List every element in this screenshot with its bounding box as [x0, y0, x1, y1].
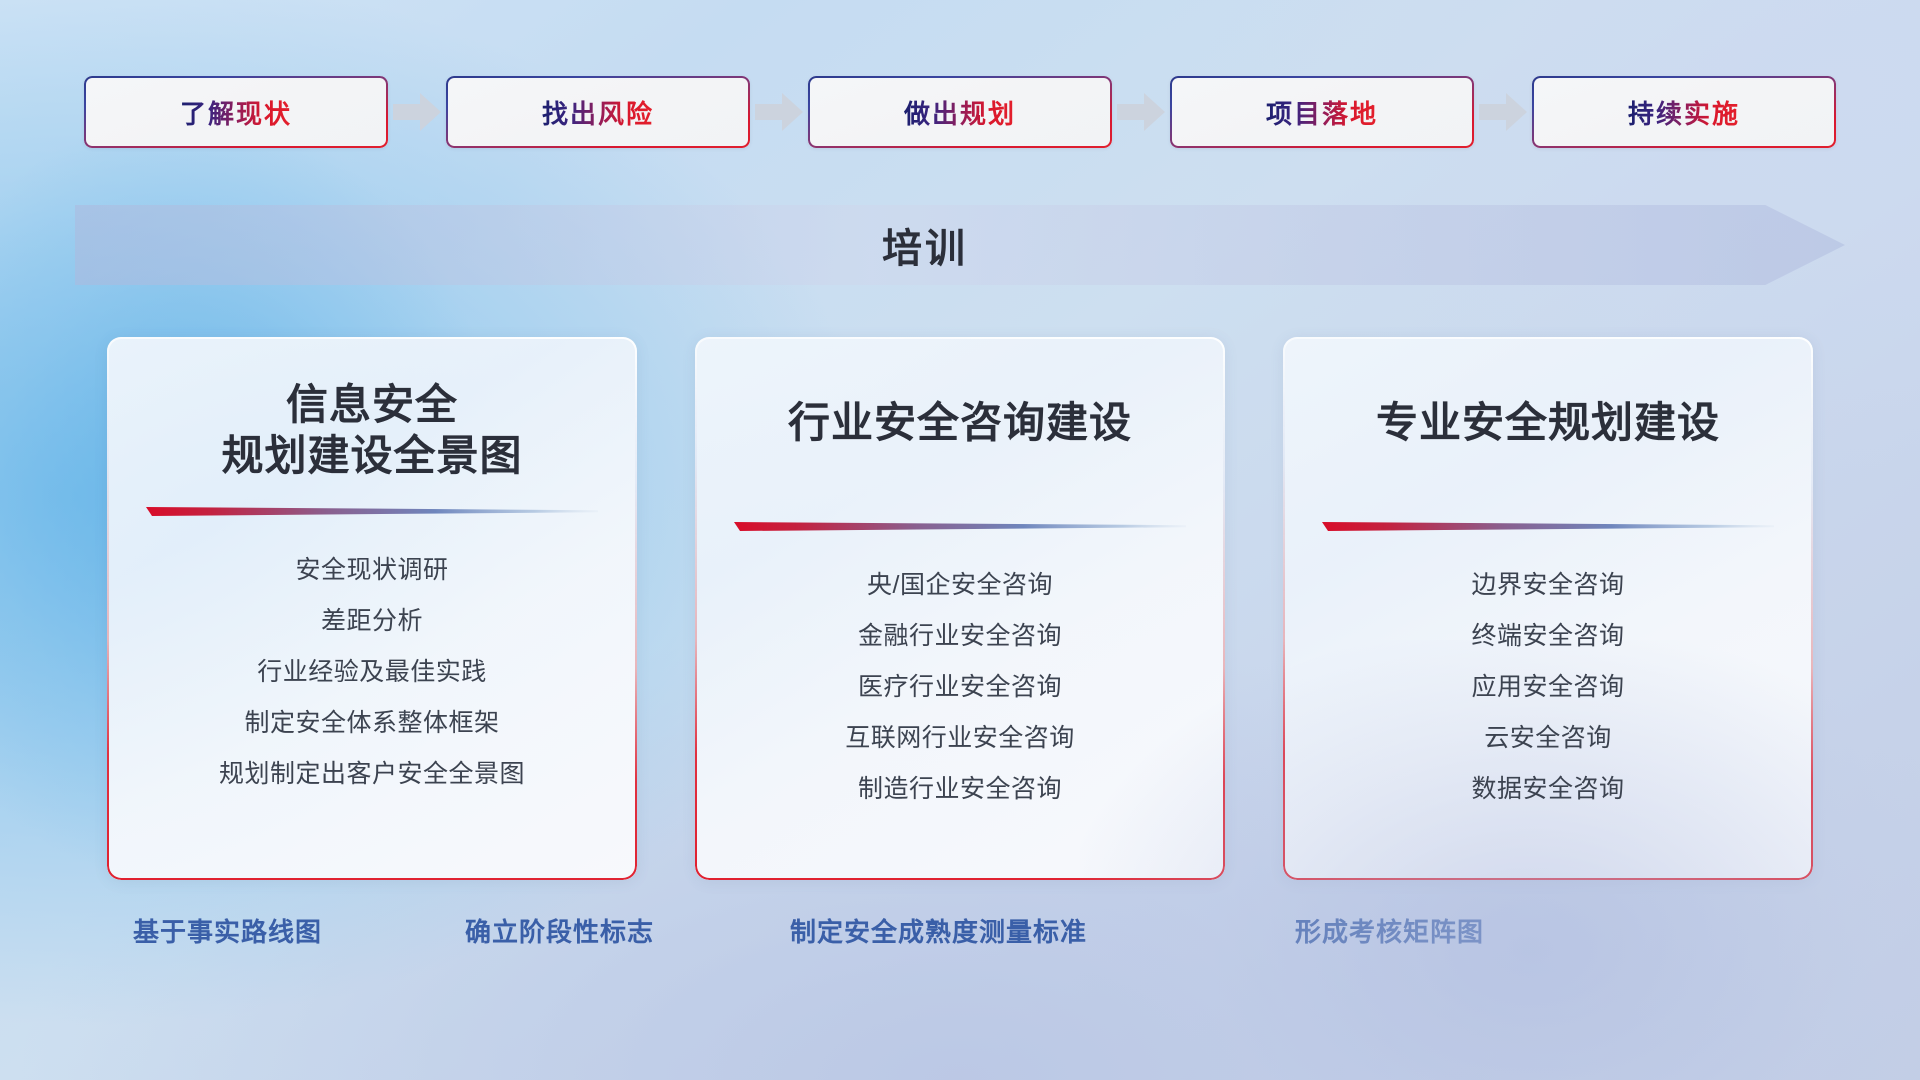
card-2[interactable]: 行业安全咨询建设	[695, 337, 1225, 880]
step-box-1[interactable]: 了解现状	[84, 76, 388, 148]
card-divider-3	[1322, 520, 1774, 534]
card-row: 信息安全 规划建设全景图	[0, 337, 1920, 880]
card-1[interactable]: 信息安全 规划建设全景图	[107, 337, 637, 880]
list-item: 规划制定出客户安全全景图	[219, 749, 525, 800]
list-item: 数据安全咨询	[1471, 764, 1624, 815]
process-step-row: 了解现状 找出风险 做出规划 项目落地 持续实施	[0, 76, 1920, 148]
list-item: 制定安全体系整体框架	[219, 698, 525, 749]
list-item: 安全现状调研	[219, 545, 525, 596]
step-box-4[interactable]: 项目落地	[1170, 76, 1474, 148]
list-item: 行业经验及最佳实践	[219, 647, 525, 698]
arrow-right-icon	[750, 90, 808, 134]
list-item: 终端安全咨询	[1471, 611, 1624, 662]
card-list-2: 央/国企安全咨询 金融行业安全咨询 医疗行业安全咨询 互联网行业安全咨询 制造行…	[845, 560, 1075, 815]
step-box-2[interactable]: 找出风险	[446, 76, 750, 148]
bottom-label-2: 确立阶段性标志	[465, 912, 654, 949]
list-item: 差距分析	[219, 596, 525, 647]
arrow-right-icon	[388, 90, 446, 134]
list-item: 应用安全咨询	[1471, 662, 1624, 713]
step-label-1: 了解现状	[180, 94, 292, 131]
step-box-3[interactable]: 做出规划	[808, 76, 1112, 148]
list-item: 云安全咨询	[1471, 713, 1624, 764]
list-item: 互联网行业安全咨询	[845, 713, 1075, 764]
step-label-4: 项目落地	[1266, 94, 1378, 131]
list-item: 金融行业安全咨询	[845, 611, 1075, 662]
card-3[interactable]: 专业安全规划建设	[1283, 337, 1813, 880]
bottom-label-row: 基于事实路线图 确立阶段性标志 制定安全成熟度测量标准 形成考核矩阵图	[0, 912, 1920, 956]
slide-canvas: 了解现状 找出风险 做出规划 项目落地 持续实施 培训	[0, 0, 1920, 1080]
card-title-1: 信息安全 规划建设全景图	[221, 379, 522, 481]
card-title-2: 行业安全咨询建设	[788, 397, 1132, 448]
card-list-1: 安全现状调研 差距分析 行业经验及最佳实践 制定安全体系整体框架 规划制定出客户…	[219, 545, 525, 800]
list-item: 制造行业安全咨询	[845, 764, 1075, 815]
bottom-label-3: 制定安全成熟度测量标准	[790, 912, 1087, 949]
card-title-3: 专业安全规划建设	[1376, 397, 1720, 448]
bottom-label-1: 基于事实路线图	[133, 912, 322, 949]
bottom-label-4: 形成考核矩阵图	[1295, 912, 1484, 949]
card-divider-2	[734, 520, 1186, 534]
banner-title: 培训	[75, 216, 1845, 274]
list-item: 医疗行业安全咨询	[845, 662, 1075, 713]
arrow-right-icon	[1112, 90, 1170, 134]
card-divider-1	[146, 505, 598, 519]
training-banner: 培训	[75, 205, 1845, 285]
arrow-right-icon	[1474, 90, 1532, 134]
step-box-5[interactable]: 持续实施	[1532, 76, 1836, 148]
step-label-2: 找出风险	[542, 94, 654, 131]
list-item: 央/国企安全咨询	[845, 560, 1075, 611]
card-list-3: 边界安全咨询 终端安全咨询 应用安全咨询 云安全咨询 数据安全咨询	[1471, 560, 1624, 815]
step-label-5: 持续实施	[1628, 94, 1740, 131]
list-item: 边界安全咨询	[1471, 560, 1624, 611]
step-label-3: 做出规划	[904, 94, 1016, 131]
